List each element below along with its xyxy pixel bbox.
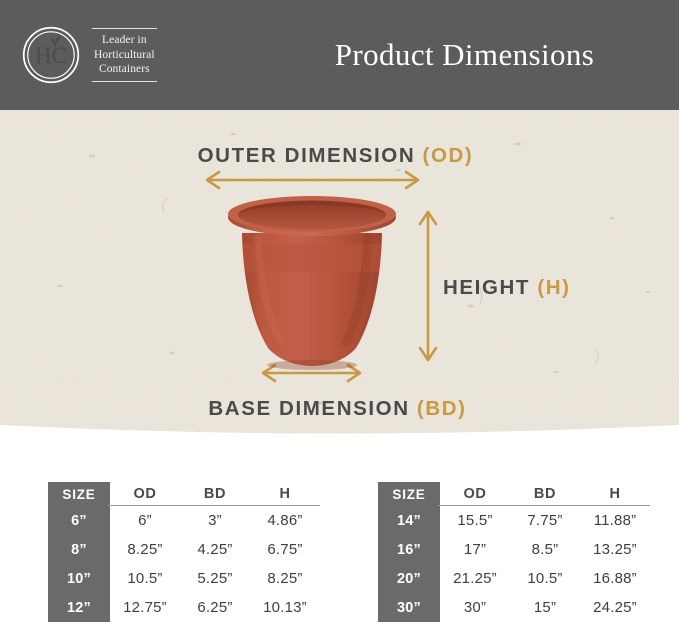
table-row: 8”8.25”4.25”6.75” [48,535,320,564]
cell-h: 6.75” [250,535,320,564]
cell-bd: 7.75” [510,506,580,535]
table-header-row: SIZE OD BD H [378,482,650,506]
column-header-bd: BD [510,482,580,506]
cell-bd: 10.5” [510,564,580,593]
height-label: HEIGHT (H) [443,276,571,300]
outer-dimension-abbr: (OD) [423,144,474,167]
cell-size: 8” [48,535,110,564]
cell-bd: 3” [180,506,250,535]
table-row: 10”10.5”5.25”8.25” [48,564,320,593]
cell-h: 4.86” [250,506,320,535]
table-header-row: SIZE OD BD H [48,482,320,506]
cell-bd: 8.5” [510,535,580,564]
page-header: HC Leader in Horticultural Containers Pr… [0,0,679,110]
column-header-size: SIZE [378,482,440,506]
dimensions-table-small: SIZE OD BD H 6”6”3”4.86”8”8.25”4.25”6.75… [48,482,320,622]
column-header-od: OD [440,482,510,506]
column-header-size: SIZE [48,482,110,506]
cell-size: 20” [378,564,440,593]
cell-bd: 15” [510,593,580,622]
column-header-h: H [580,482,650,506]
column-header-bd: BD [180,482,250,506]
cell-size: 10” [48,564,110,593]
cell-h: 16.88” [580,564,650,593]
cell-od: 10.5” [110,564,180,593]
table-row: 14”15.5”7.75”11.88” [378,506,650,535]
cell-bd: 4.25” [180,535,250,564]
table-body: 14”15.5”7.75”11.88”16”17”8.5”13.25”20”21… [378,506,650,622]
column-header-od: OD [110,482,180,506]
base-dimension-abbr: (BD) [417,397,467,420]
page-title: Product Dimensions [0,37,679,73]
cell-od: 21.25” [440,564,510,593]
base-dimension-text: BASE DIMENSION [208,397,417,420]
outer-dimension-text: OUTER DIMENSION [198,144,423,167]
table-row: 16”17”8.5”13.25” [378,535,650,564]
cell-od: 15.5” [440,506,510,535]
product-dimensions-diagram: OUTER DIMENSION (OD) HEIGHT (H) BASE DIM… [0,110,679,440]
cell-size: 12” [48,593,110,622]
base-dimension-label: BASE DIMENSION (BD) [0,397,679,421]
cell-od: 17” [440,535,510,564]
cell-od: 6” [110,506,180,535]
cell-od: 30” [440,593,510,622]
cell-bd: 5.25” [180,564,250,593]
cell-size: 6” [48,506,110,535]
table-body: 6”6”3”4.86”8”8.25”4.25”6.75”10”10.5”5.25… [48,506,320,622]
table-row: 12”12.75”6.25”10.13” [48,593,320,622]
cell-bd: 6.25” [180,593,250,622]
dimensions-table-large: SIZE OD BD H 14”15.5”7.75”11.88”16”17”8.… [378,482,650,622]
table-header-rule-right [438,505,650,506]
height-abbr: (H) [537,276,570,299]
cell-size: 16” [378,535,440,564]
cell-h: 8.25” [250,564,320,593]
height-dimension-arrow-icon [420,212,436,360]
height-text: HEIGHT [443,276,537,299]
cell-size: 30” [378,593,440,622]
outer-dimension-arrow-icon [207,172,418,188]
cell-od: 12.75” [110,593,180,622]
cell-h: 13.25” [580,535,650,564]
cell-size: 14” [378,506,440,535]
table-row: 30”30”15”24.25” [378,593,650,622]
table-row: 20”21.25”10.5”16.88” [378,564,650,593]
column-header-h: H [250,482,320,506]
table-header-rule-left [108,505,320,506]
cell-h: 11.88” [580,506,650,535]
terracotta-pot-illustration [228,196,396,370]
outer-dimension-label: OUTER DIMENSION (OD) [0,144,679,168]
cell-h: 10.13” [250,593,320,622]
cell-h: 24.25” [580,593,650,622]
table-row: 6”6”3”4.86” [48,506,320,535]
cell-od: 8.25” [110,535,180,564]
